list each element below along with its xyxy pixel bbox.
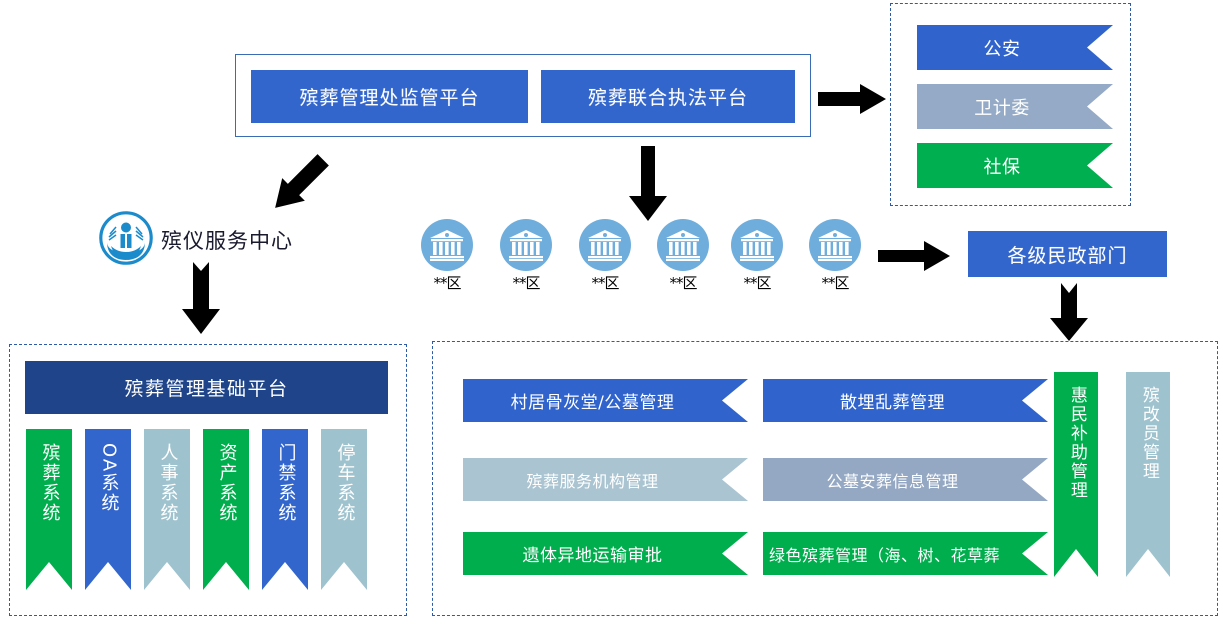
arrow-civil-affairs-to-business <box>1050 283 1088 341</box>
module-label: 村居骨灰堂/公墓管理 <box>511 388 675 413</box>
government-building-icon <box>731 219 783 271</box>
arrow-platforms-to-agencies <box>818 84 886 114</box>
platform-joint-enforcement-label: 殡葬联合执法平台 <box>588 83 748 110</box>
module-cemetery-burial-info[interactable]: 公墓安葬信息管理 <box>763 458 1048 501</box>
civil-affairs-box[interactable]: 各级民政部门 <box>968 231 1167 277</box>
civil-affairs-label: 各级民政部门 <box>1007 241 1127 268</box>
service-center-group[interactable]: 殡仪服务中心 <box>99 211 293 269</box>
district-item-6[interactable]: **区 <box>808 219 862 293</box>
module-funeral-reform-officer-management[interactable]: 殡改员管理 <box>1126 372 1170 577</box>
base-platform-header: 殡葬管理基础平台 <box>25 361 388 414</box>
module-label: 绿色殡葬管理（海、树、花草葬 <box>769 542 1000 566</box>
module-label: 殡改员管理 <box>1139 386 1157 481</box>
module-label: 散埋乱葬管理 <box>840 388 945 413</box>
module-label: 遗体异地运输审批 <box>523 541 663 566</box>
system-label: 殡葬系统 <box>40 443 59 523</box>
module-village-ossuary-cemetery[interactable]: 村居骨灰堂/公墓管理 <box>463 379 748 422</box>
module-funeral-service-institutions[interactable]: 殡葬服务机构管理 <box>463 458 748 501</box>
agency-social-security-label: 社保 <box>984 153 1021 179</box>
district-label: **区 <box>808 272 862 293</box>
module-benefit-subsidy-management[interactable]: 惠民补助管理 <box>1054 372 1098 577</box>
module-green-funeral[interactable]: 绿色殡葬管理（海、树、花草葬 <box>763 532 1048 575</box>
module-body-transport-approval[interactable]: 遗体异地运输审批 <box>463 532 748 575</box>
platform-supervision-label: 殡葬管理处监管平台 <box>299 83 479 110</box>
district-item-4[interactable]: **区 <box>656 219 710 293</box>
base-platform-header-label: 殡葬管理基础平台 <box>124 374 288 401</box>
system-label: OA系统 <box>99 443 118 513</box>
arrow-platform-to-districts <box>629 146 667 221</box>
district-item-3[interactable]: **区 <box>578 219 632 293</box>
district-label: **区 <box>656 272 710 293</box>
module-label: 殡葬服务机构管理 <box>526 468 658 492</box>
government-building-icon <box>421 219 473 271</box>
district-item-5[interactable]: **区 <box>730 219 784 293</box>
district-label: **区 <box>420 272 474 293</box>
system-label: 资产系统 <box>217 443 236 523</box>
government-building-icon <box>500 219 552 271</box>
agency-public-security-label: 公安 <box>984 35 1021 61</box>
module-label: 惠民补助管理 <box>1067 386 1085 500</box>
system-label: 人事系统 <box>158 443 177 523</box>
arrow-districts-to-civil-affairs <box>878 241 950 271</box>
module-label: 公墓安葬信息管理 <box>826 468 958 492</box>
funeral-service-center-logo-icon <box>99 211 153 269</box>
module-scattered-burial[interactable]: 散埋乱葬管理 <box>763 379 1048 422</box>
government-building-icon <box>809 219 861 271</box>
arrow-service-center-to-base <box>182 262 220 334</box>
district-label: **区 <box>578 272 632 293</box>
agency-health-commission-ribbon[interactable]: 卫计委 <box>917 84 1113 129</box>
agency-public-security-ribbon[interactable]: 公安 <box>917 25 1113 70</box>
service-center-label: 殡仪服务中心 <box>161 225 293 255</box>
agency-health-commission-label: 卫计委 <box>974 94 1030 120</box>
arrow-platform-to-service-center <box>258 145 346 217</box>
district-item-1[interactable]: **区 <box>420 219 474 293</box>
system-label: 停车系统 <box>335 443 354 523</box>
system-label: 门禁系统 <box>276 443 295 523</box>
district-label: **区 <box>730 272 784 293</box>
government-building-icon <box>579 219 631 271</box>
diagram-canvas: 殡葬管理处监管平台 殡葬联合执法平台 公安 卫计委 社保 <box>0 0 1223 624</box>
government-building-icon <box>657 219 709 271</box>
district-label: **区 <box>499 272 553 293</box>
platform-joint-enforcement-box[interactable]: 殡葬联合执法平台 <box>541 70 795 123</box>
platform-supervision-box[interactable]: 殡葬管理处监管平台 <box>251 70 528 123</box>
district-item-2[interactable]: **区 <box>499 219 553 293</box>
agency-social-security-ribbon[interactable]: 社保 <box>917 143 1113 188</box>
